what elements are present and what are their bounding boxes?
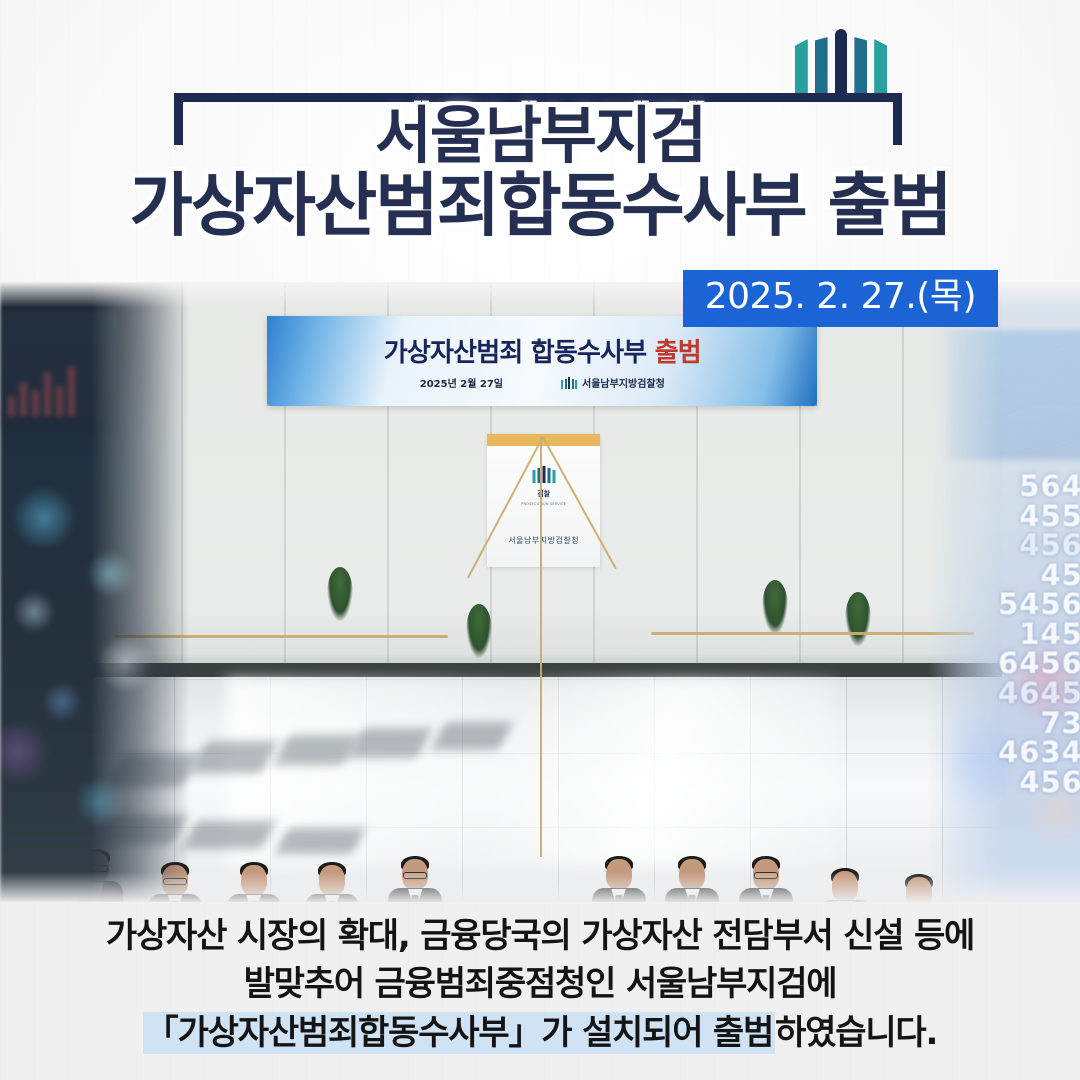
plaque-organization: 서울남부지방검찰청 xyxy=(487,535,600,546)
person-head xyxy=(241,865,267,896)
left-chart-bars xyxy=(8,364,75,416)
person-tie xyxy=(689,895,696,902)
overlay-number: 46344 xyxy=(934,738,1080,768)
person-glasses xyxy=(754,872,778,879)
left-chart-overlay xyxy=(0,310,118,430)
overlay-number: 64566 xyxy=(934,649,1080,679)
title-line-2: 가상자산범죄합동수사부 출범 xyxy=(0,171,1080,241)
floor-shadow xyxy=(274,735,359,765)
person-head xyxy=(832,871,858,902)
ceremony-banner: 가상자산범죄 합동수사부 출범 2025년 2월 27일 서울남부지방검찰청 xyxy=(267,316,817,406)
caption-line-3-post: 하였습니다. xyxy=(775,1013,937,1053)
title-line-1: 서울남부지검 xyxy=(0,104,1080,167)
potted-plant xyxy=(466,604,492,658)
floor-shadow xyxy=(182,821,276,849)
banner-title-accent: 출범 xyxy=(655,338,701,368)
overlay-number: 46455 xyxy=(934,679,1080,709)
banner-organization-label: 서울남부지방검찰청 xyxy=(582,375,665,390)
date-badge: 2025. 2. 27.(목) xyxy=(683,270,998,327)
caption-block: 가상자산 시장의 확대, 금융당국의 가상자산 전담부서 신설 등에 발맞추어 … xyxy=(0,912,1080,1057)
overlay-number: 4567 xyxy=(934,768,1080,798)
prosecution-service-logo-icon xyxy=(795,29,887,95)
overlay-number: 4558 xyxy=(934,502,1080,532)
person-tie xyxy=(763,895,770,902)
floor-shadow xyxy=(275,828,366,854)
plaque-logo-label: 검찰 xyxy=(487,489,600,499)
banner-title: 가상자산범죄 합동수사부 출범 xyxy=(384,332,701,369)
potted-plant xyxy=(845,592,871,646)
ceremony-rope-right xyxy=(651,632,974,635)
caption-highlight: 「가상자산범죄합동수사부」가 설치되어 출범 xyxy=(143,1012,775,1054)
left-tech-overlay xyxy=(0,282,190,902)
person-head xyxy=(679,859,705,890)
caption-line-3: 「가상자산범죄합동수사부」가 설치되어 출범하였습니다. xyxy=(0,1009,1080,1057)
person-head xyxy=(606,859,632,890)
banner-subline: 2025년 2월 27일 서울남부지방검찰청 xyxy=(420,375,665,390)
potted-plant xyxy=(762,580,788,634)
logo-bar-4 xyxy=(854,37,867,95)
logo-bar-1 xyxy=(795,39,808,95)
plaque-logo-icon xyxy=(532,466,555,483)
person-shirt xyxy=(837,901,852,902)
person-tie xyxy=(250,901,257,902)
page-title: 서울남부지검 가상자산범죄합동수사부 출범 xyxy=(0,104,1080,242)
person-glasses xyxy=(403,872,427,879)
veiled-plaque: 검찰 PROSECUTION SERVICE 서울남부지방검찰청 xyxy=(487,434,600,567)
ceremony-photo: 가상자산범죄 합동수사부 출범 2025년 2월 27일 서울남부지방검찰청 검… xyxy=(0,282,1080,902)
overlay-number: 4564 xyxy=(934,531,1080,561)
logo-bar-5 xyxy=(874,39,887,95)
overlay-number: 54564 xyxy=(934,590,1080,620)
person-head xyxy=(319,865,345,896)
caption-line-2: 발맞추어 금융범죄중점청인 서울남부지검에 xyxy=(0,960,1080,1008)
person-tie xyxy=(329,901,336,902)
right-overlay-numbers: 5647455845644535456414566456646455731463… xyxy=(934,472,1080,797)
banner-date: 2025년 2월 27일 xyxy=(420,375,503,390)
ceremony-cord-center xyxy=(540,437,542,857)
logo-bar-2 xyxy=(815,37,828,95)
overlay-number: 731 xyxy=(934,709,1080,739)
announcement-card: 서울남부지검 가상자산범죄합동수사부 출범 2025. 2. 27.(목) xyxy=(0,0,1080,1080)
right-screen-glow xyxy=(946,330,1080,460)
floor-shadow xyxy=(432,722,514,750)
person-tie xyxy=(615,895,622,902)
photo-scene: 가상자산범죄 합동수사부 출범 2025년 2월 27일 서울남부지방검찰청 검… xyxy=(78,282,1002,902)
banner-logo-icon xyxy=(561,377,577,389)
caption-line-1: 가상자산 시장의 확대, 금융당국의 가상자산 전담부서 신설 등에 xyxy=(0,912,1080,960)
person-tie xyxy=(412,895,419,902)
overlay-number: 5647 xyxy=(934,472,1080,502)
banner-organization: 서울남부지방검찰청 xyxy=(561,375,665,390)
right-data-overlay: 5647455845644535456414566456646455731463… xyxy=(928,282,1080,902)
overlay-number: 453 xyxy=(934,561,1080,591)
potted-plant xyxy=(327,567,353,621)
logo-bar-3 xyxy=(835,29,848,95)
banner-title-main: 가상자산범죄 합동수사부 xyxy=(384,338,655,368)
